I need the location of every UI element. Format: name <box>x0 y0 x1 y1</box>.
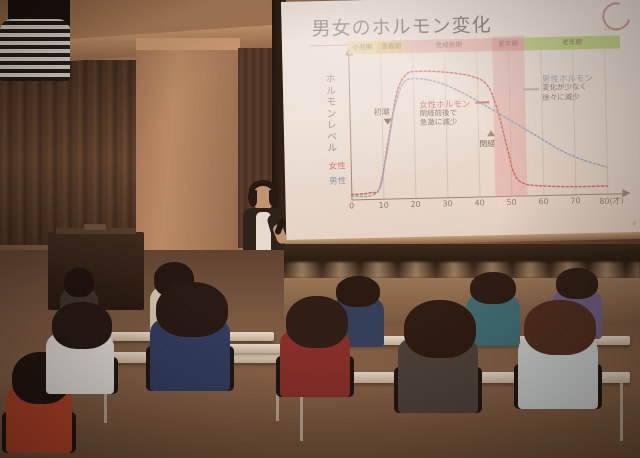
wall-pillar <box>136 40 240 270</box>
screenshot-root: 男女のホルモン変化 ちぇぶら ホルモンレベル 小児期思春期性成熟期更年期老年期 … <box>0 0 640 458</box>
audience-head <box>470 272 516 304</box>
life-stage-3: 更年期 <box>492 37 524 51</box>
x-tick-80(才): 80(才) <box>599 195 624 207</box>
audience-head <box>556 268 598 299</box>
page-title: 男女のホルモン変化 <box>311 10 492 41</box>
speaker-grill <box>20 2 70 20</box>
annotation-male-body-2: 徐々に減少 <box>542 92 580 102</box>
audience-head <box>286 296 348 348</box>
x-tick-0: 0 <box>349 201 354 210</box>
life-stage-2: 性成熟期 <box>405 38 492 53</box>
brand-logo: ちぇぶら <box>602 2 631 37</box>
hormone-chart: ホルモンレベル 小児期思春期性成熟期更年期老年期 010203040506070… <box>310 49 632 226</box>
annotation-menarche: 初潮 <box>373 107 389 118</box>
x-tick-30: 30 <box>442 199 452 208</box>
audience-head <box>404 300 476 358</box>
logo-label: ちぇぶら <box>604 27 620 32</box>
legend-male: 男性 <box>329 175 346 187</box>
audience-striped-top <box>0 19 70 81</box>
annotation-menopause: 閉経 <box>479 138 495 149</box>
presenter-hair-right <box>269 190 278 206</box>
audience-head <box>156 282 228 337</box>
menopause-marker-icon <box>487 130 495 136</box>
annotation-female-body-2: 急激に減少 <box>420 117 458 127</box>
wall-pillar-top <box>136 38 240 50</box>
legend-female: 女性 <box>329 160 346 172</box>
audience-head <box>52 302 112 349</box>
x-tick-20: 20 <box>410 200 420 209</box>
life-stage-4: 老年期 <box>524 35 620 50</box>
x-tick-40: 40 <box>474 198 484 207</box>
life-stage-0: 小児期 <box>348 41 377 55</box>
podium-item <box>84 224 106 230</box>
presenter-hair-left <box>248 190 257 207</box>
audience-head <box>524 300 596 355</box>
x-tick-10: 10 <box>378 201 388 210</box>
audience-head <box>64 268 94 297</box>
x-tick-70: 70 <box>570 196 580 205</box>
annotation-male-body-1: 変化が少なく <box>542 82 587 93</box>
projection-screen: 男女のホルモン変化 ちぇぶら ホルモンレベル 小児期思春期性成熟期更年期老年期 … <box>281 0 640 250</box>
x-tick-50: 50 <box>506 198 516 207</box>
slide-surface: 男女のホルモン変化 ちぇぶら ホルモンレベル 小児期思春期性成熟期更年期老年期 … <box>281 0 640 242</box>
slide-page-number: 8 <box>633 221 636 227</box>
x-tick-60: 60 <box>538 197 548 206</box>
desk-leg <box>620 383 623 441</box>
life-stage-1: 思春期 <box>377 40 406 54</box>
menarche-marker-icon <box>384 119 392 125</box>
female-leader-line <box>475 101 489 103</box>
curtain-shadow <box>0 55 138 245</box>
audience-head <box>336 276 380 307</box>
